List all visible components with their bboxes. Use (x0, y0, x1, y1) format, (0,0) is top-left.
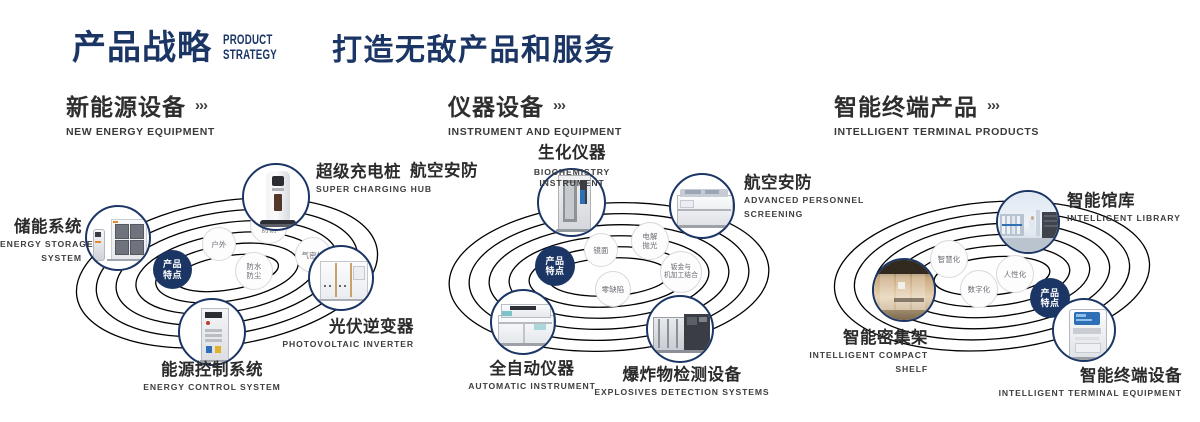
section-title-cn: 智能终端产品 (834, 94, 978, 121)
page-title-cn: 产品战略 (72, 28, 212, 68)
core-badge-line2: 特点 (545, 266, 564, 277)
node-intelligent-compact-shelf[interactable] (872, 258, 936, 322)
compact-shelf-photo (874, 260, 934, 320)
node-label-en-line1: INTELLIGENT LIBRARY (1067, 213, 1181, 225)
node-label-en-line2: INSTRUMENT (526, 178, 618, 190)
node-energy-control-system[interactable] (178, 298, 246, 366)
node-energy-storage-system[interactable] (85, 205, 151, 271)
node-label-en-line2: SHELF (736, 364, 928, 376)
feature-tag: 数字化 (960, 270, 998, 308)
section-title-en: NEW ENERGY EQUIPMENT (66, 126, 215, 138)
node-label-cn: 智能馆库 (1067, 191, 1181, 211)
chevron-right-icon: ››› (195, 97, 207, 114)
node-label-cn: 智能终端设备 (912, 366, 1182, 386)
section-heading-intelligent-terminal: 智能终端产品››› INTELLIGENT TERMINAL PRODUCTS (834, 94, 1039, 138)
label-intelligent-compact-shelf: 智能密集架 INTELLIGENT COMPACT SHELF (736, 328, 928, 375)
label-intelligent-terminal-equipment: 智能终端设备 INTELLIGENT TERMINAL EQUIPMENT (912, 366, 1182, 400)
node-label-en-line1: ENERGY STORAGE (0, 239, 82, 251)
core-badge-line1: 产品 (163, 259, 182, 270)
label-energy-storage-system: 储能系统 ENERGY STORAGE SYSTEM (0, 217, 82, 264)
chevron-right-icon: ››› (553, 97, 565, 114)
node-label-en-line2: SYSTEM (0, 253, 82, 265)
node-label-en-line1: BIOCHEMISTRY (526, 167, 618, 179)
node-intelligent-terminal-equipment[interactable] (1052, 298, 1116, 362)
feature-tag-line1: 人性化 (1004, 270, 1027, 279)
battery-cabinet-photo (87, 207, 149, 269)
terminal-kiosk-photo (1054, 300, 1114, 360)
label-energy-control-system: 能源控制系统 ENERGY CONTROL SYSTEM (82, 360, 342, 394)
node-label-cn: 生化仪器 (526, 143, 618, 163)
node-label-en-line1: EXPLOSIVES DETECTION SYSTEMS (554, 387, 810, 399)
node-label-en-line1: PHOTOVOLTAIC INVERTER (248, 339, 414, 351)
node-explosives-detection-systems[interactable] (646, 295, 714, 363)
feature-tag-line2: 抛光 (642, 241, 657, 250)
section-title-en: INSTRUMENT AND EQUIPMENT (448, 126, 622, 138)
node-label-cn: 光伏逆变器 (248, 317, 414, 337)
node-label-en-line1: INTELLIGENT COMPACT (736, 350, 928, 362)
feature-tag-line1: 数字化 (968, 285, 991, 294)
feature-tag-line1: 防水 (246, 262, 261, 271)
feature-tag-line1: 钣金与 (664, 264, 698, 272)
node-label-cn: 能源控制系统 (82, 360, 342, 380)
control-cabinet-photo (180, 300, 244, 364)
feature-tag-line1: 镜面 (593, 246, 608, 255)
page-subtitle: 打造无敌产品和服务 (332, 32, 616, 70)
chevron-right-icon: ››› (987, 97, 999, 114)
core-badge-product-features: 产品 特点 (535, 246, 575, 286)
node-super-charging-hub[interactable] (242, 163, 310, 231)
page-title-en: PRODUCT STRATEGY (223, 32, 277, 62)
node-advanced-personnel-screening[interactable] (669, 173, 735, 239)
node-intelligent-library[interactable] (996, 190, 1060, 254)
feature-tag: 钣金与 机加工结合 (660, 251, 702, 293)
node-label-en-line1: ENERGY CONTROL SYSTEM (82, 382, 342, 394)
node-label-cn: 智能密集架 (736, 328, 928, 348)
core-badge-product-features: 产品 特点 (153, 250, 192, 289)
cluster-new-energy: 产品 特点 户外 防腐 防锈 防水 防尘 气密性 (52, 155, 402, 385)
label-intelligent-library: 智能馆库 INTELLIGENT LIBRARY (1067, 191, 1181, 225)
node-label-cn: 储能系统 (0, 217, 82, 237)
section-heading-instrument: 仪器设备››› INSTRUMENT AND EQUIPMENT (448, 94, 622, 138)
node-label-cn: 航空安防 (410, 161, 478, 181)
label-aviation-security-left: 航空安防 (410, 161, 478, 181)
charging-pile-photo (244, 165, 308, 229)
feature-tag-line2: 机加工结合 (664, 272, 698, 280)
feature-tag: 零缺陷 (595, 271, 631, 307)
page-title: 产品战略 PRODUCT STRATEGY (72, 28, 298, 68)
feature-tag-line1: 户外 (211, 240, 226, 249)
feature-tag: 智慧化 (930, 240, 968, 278)
feature-tag: 镜面 (584, 233, 618, 267)
core-badge-line1: 产品 (1040, 288, 1059, 299)
explosives-detector-photo (648, 297, 712, 361)
feature-tag-line2: 防尘 (246, 271, 261, 280)
feature-tag-line1: 零缺陷 (602, 285, 625, 294)
library-photo (998, 192, 1058, 252)
feature-tag: 人性化 (996, 255, 1034, 293)
feature-tag: 防水 防尘 (235, 252, 273, 290)
screening-machine-photo (671, 175, 733, 237)
page-title-en-line2: STRATEGY (223, 47, 277, 62)
label-photovoltaic-inverter: 光伏逆变器 PHOTOVOLTAIC INVERTER (248, 317, 414, 351)
section-title-cn: 新能源设备 (66, 94, 186, 121)
core-badge-line1: 产品 (545, 256, 564, 267)
core-badge-line2: 特点 (163, 270, 182, 281)
node-automatic-instrument[interactable] (490, 289, 556, 355)
page-title-en-line1: PRODUCT (223, 32, 277, 47)
node-label-en-line1: SUPER CHARGING HUB (316, 184, 432, 196)
automatic-instrument-photo (492, 291, 554, 353)
feature-tag: 电解 抛光 (631, 222, 669, 260)
section-title-cn: 仪器设备 (448, 94, 544, 121)
node-photovoltaic-inverter[interactable] (308, 245, 374, 311)
product-strategy-infographic: 产品战略 PRODUCT STRATEGY 打造无敌产品和服务 新能源设备›››… (0, 0, 1200, 422)
section-heading-new-energy: 新能源设备››› NEW ENERGY EQUIPMENT (66, 94, 215, 138)
cluster-intelligent-terminal: 智慧化 数字化 人性化 产品 特点 (812, 158, 1182, 398)
feature-tag-line1: 智慧化 (938, 255, 961, 264)
feature-tag-line1: 电解 (642, 232, 657, 241)
feature-tag: 户外 (202, 227, 236, 261)
node-label-en-line1: INTELLIGENT TERMINAL EQUIPMENT (912, 388, 1182, 400)
inverter-photo (310, 247, 372, 309)
section-title-en: INTELLIGENT TERMINAL PRODUCTS (834, 126, 1039, 138)
